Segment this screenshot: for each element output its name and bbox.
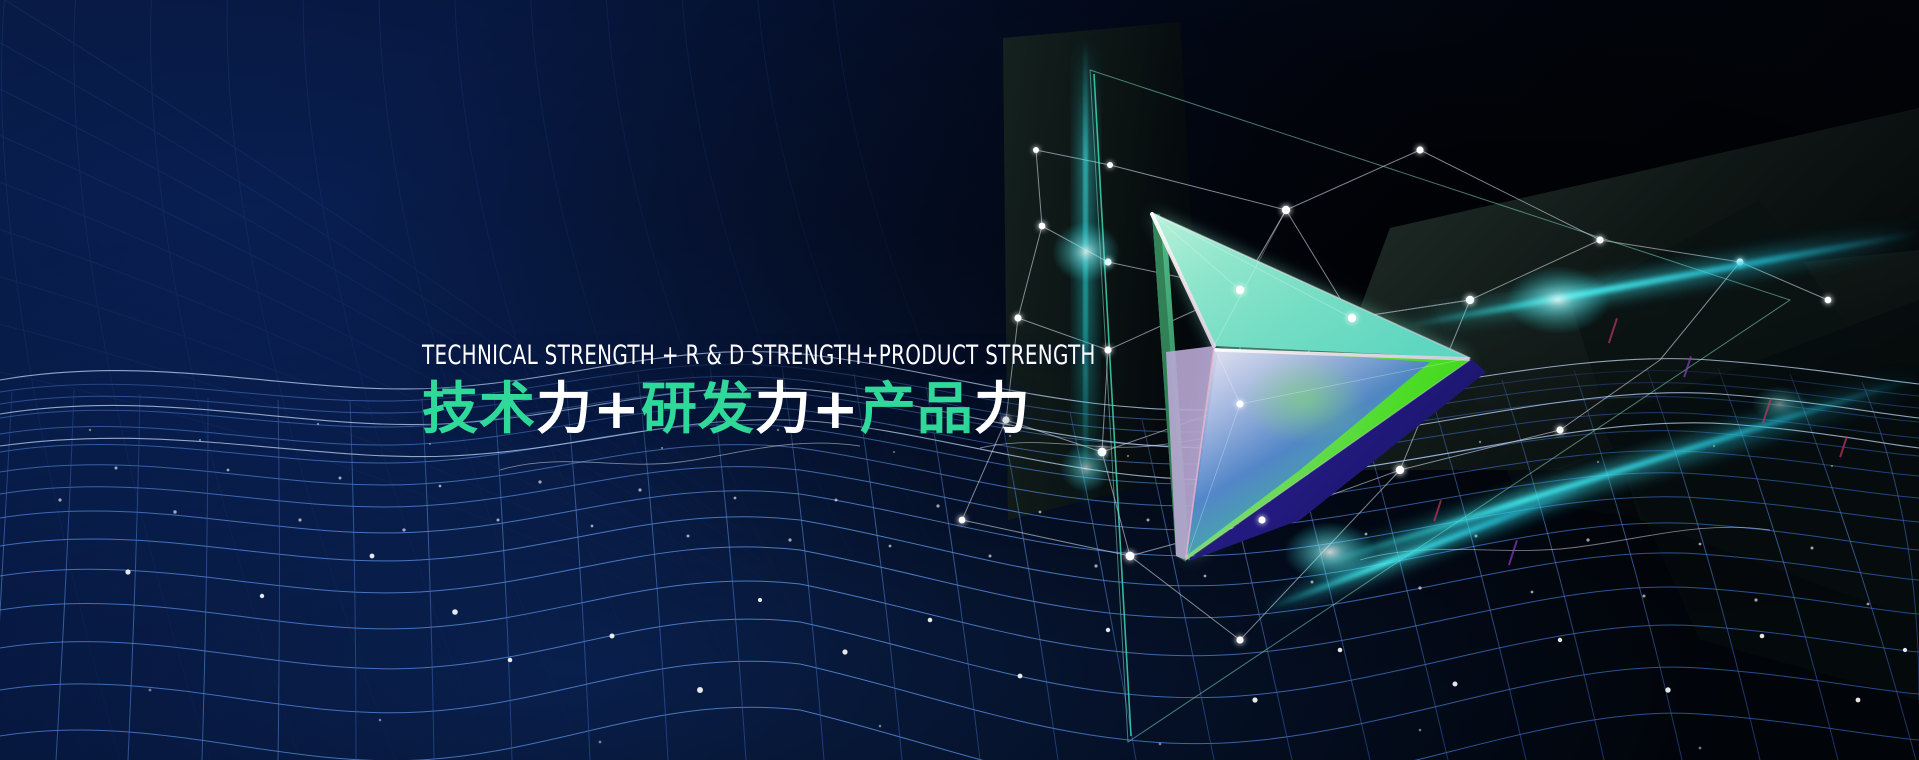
- headline-segment-2: +: [593, 377, 641, 442]
- tagline-english: TECHNICAL STRENGTH + R & D STRENGTH+PROD…: [422, 341, 1096, 371]
- headline-segment-1: 力: [536, 377, 593, 442]
- hero-banner: TECHNICAL STRENGTH + R & D STRENGTH+PROD…: [0, 0, 1919, 760]
- headline-block: TECHNICAL STRENGTH + R & D STRENGTH+PROD…: [422, 341, 1244, 440]
- headline-segment-3: 研发: [641, 377, 755, 442]
- headline-segment-0: 技术: [422, 377, 536, 442]
- headline-chinese: 技术力+研发力+产品力: [422, 380, 1244, 440]
- headline-segment-4: 力: [755, 377, 812, 442]
- headline-segment-5: +: [812, 377, 860, 442]
- headline-segment-7: 力: [974, 377, 1031, 442]
- headline-segment-6: 产品: [860, 377, 974, 442]
